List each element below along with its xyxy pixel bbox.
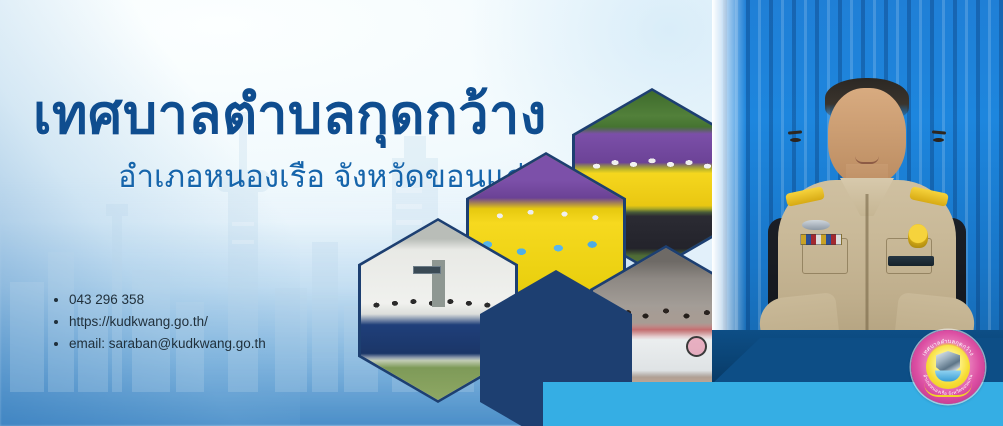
contact-item-phone: 043 296 358 <box>52 289 266 311</box>
mayor-figure <box>764 48 970 348</box>
eyebrow-right <box>932 130 946 134</box>
eyebrow-left <box>788 130 802 134</box>
uniform-placket <box>866 194 869 344</box>
epaulette-right-icon <box>909 186 949 207</box>
building-sign <box>413 266 441 274</box>
epaulette-left-icon <box>785 186 825 207</box>
eye-right <box>933 138 944 142</box>
contact-list: 043 296 358 https://kudkwang.go.th/ emai… <box>52 289 266 355</box>
eye-left <box>790 138 801 142</box>
page-title: เทศบาลตำบลกุดกว้าง <box>33 85 547 145</box>
municipality-banner: เทศบาลตำบลกุดกว้าง อำเภอหนองเรือ จังหวัด… <box>0 0 1003 426</box>
wing-insignia-icon <box>802 220 830 230</box>
contact-item-website[interactable]: https://kudkwang.go.th/ <box>52 311 266 333</box>
contact-item-email[interactable]: email: saraban@kudkwang.go.th <box>52 333 266 355</box>
service-ribbons-icon <box>800 234 842 245</box>
wheelchair-wheel-icon <box>686 336 707 357</box>
seal-gold-arc <box>924 383 972 397</box>
name-tag <box>888 256 934 266</box>
gold-badge-icon <box>908 224 928 248</box>
municipality-seal-logo[interactable]: เทศบาลตำบลกุดกว้าง อำเภอหนองเรือ จังหวัด… <box>911 330 985 404</box>
